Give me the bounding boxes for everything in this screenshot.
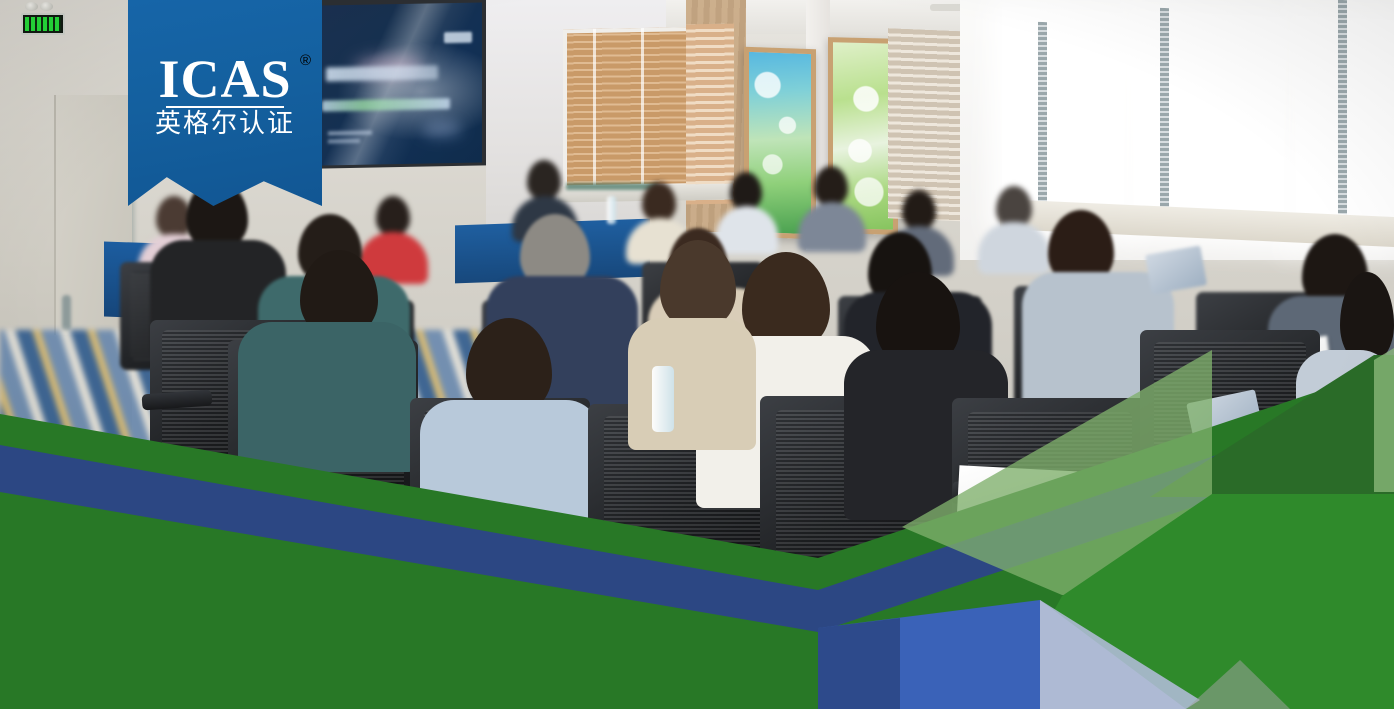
window-mullion [1160,8,1169,214]
window-mullion [1038,22,1047,218]
document-paper [957,465,1141,526]
projection-screen [322,2,482,165]
window-pane [1134,11,1284,236]
marketing-banner: ICAS ® 英格尔认证 [0,0,1394,709]
window-sill-plant [566,183,658,190]
icas-logo-badge: ICAS ® 英格尔认证 [128,0,322,206]
exit-sign-icon [21,13,65,35]
slide-footnote-text [328,131,372,136]
slide-logo-icon [444,32,472,44]
slide-title-text [326,65,438,81]
sign-lamp-icon [40,2,53,11]
registered-trademark-icon: ® [300,52,311,69]
water-bottle [652,366,674,432]
window-blinds [686,24,734,205]
door-handle [62,295,71,331]
water-bottle [607,196,616,224]
icas-wordmark: ICAS [158,54,291,105]
window-mullion [1338,0,1347,214]
slide-footnote-text [328,139,360,144]
icas-chinese-name: 英格尔认证 [155,111,295,138]
sign-lamp-icon [25,2,38,11]
